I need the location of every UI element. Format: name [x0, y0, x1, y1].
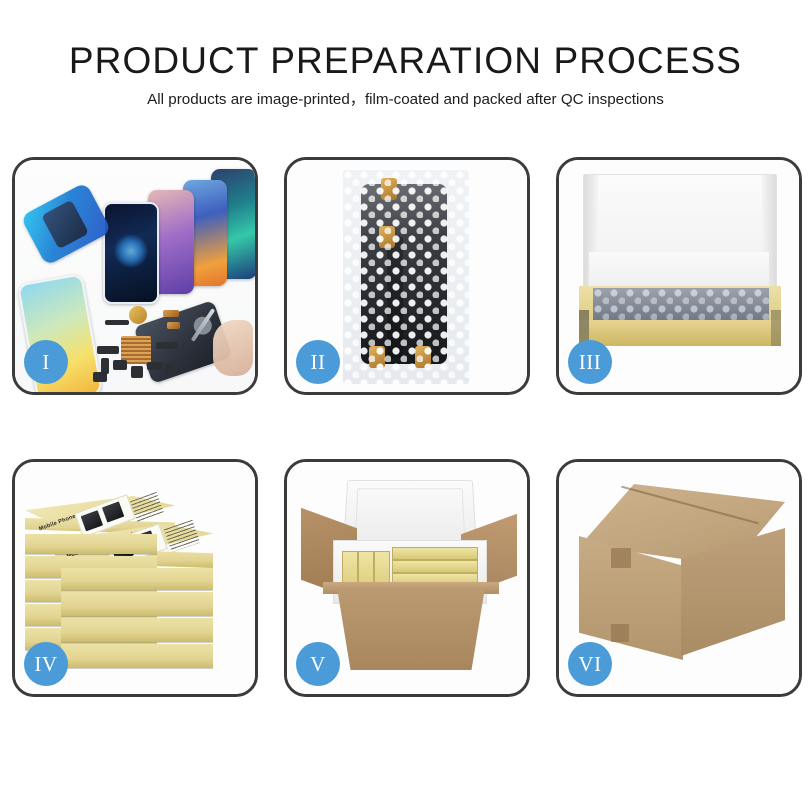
carton-tape-upper — [611, 548, 631, 568]
step-badge-6: VI — [568, 642, 612, 686]
flex-connector-part-2 — [167, 322, 180, 329]
bubble-texture — [343, 170, 469, 384]
hand — [213, 320, 253, 376]
bubble-wrap-sleeve — [343, 170, 469, 384]
flex-connector-part — [163, 310, 179, 317]
cable-part-2 — [156, 342, 178, 349]
process-step-panel-1[interactable]: I — [12, 157, 258, 395]
step-badge-1: I — [24, 340, 68, 384]
phone-black-glass — [103, 202, 159, 304]
step-badge-4: IV — [24, 642, 68, 686]
step-badge-2: II — [296, 340, 340, 384]
stack-layer-1 — [25, 534, 157, 554]
packed-box-5 — [392, 560, 478, 573]
page-subtitle: All products are image-printed，film-coat… — [0, 91, 811, 109]
bubble-texture-inner — [593, 288, 769, 322]
box-spec-lines-back — [130, 492, 164, 522]
vibrator-part — [165, 364, 174, 376]
process-step-panel-6[interactable]: VI — [556, 459, 802, 697]
process-step-panel-5[interactable]: V — [284, 459, 530, 697]
button-part — [93, 372, 107, 382]
packed-box-4 — [392, 547, 478, 560]
process-step-panel-4[interactable]: Mobile Phone Spare Parts Mobile Phone Sp… — [12, 459, 258, 697]
box-lip-right — [771, 310, 781, 346]
process-step-panel-2[interactable]: II — [284, 157, 530, 395]
page-title: PRODUCT PREPARATION PROCESS — [0, 42, 811, 81]
sensor-module — [147, 362, 163, 370]
stack-layer-r3 — [61, 618, 213, 642]
stack-layer-r1 — [61, 568, 213, 590]
step-badge-3: III — [568, 340, 612, 384]
cable-part — [97, 346, 119, 354]
carton-front — [327, 588, 495, 670]
page-header: PRODUCT PREPARATION PROCESS All products… — [0, 0, 811, 109]
camera-module — [131, 366, 143, 378]
carton-tape-lower — [611, 624, 629, 642]
stack-layer-r2 — [61, 592, 213, 616]
bubble-wrap-inside — [593, 288, 769, 322]
box-base-front — [579, 320, 781, 346]
speaker-part — [129, 306, 147, 324]
process-step-panel-3[interactable]: III — [556, 157, 802, 395]
small-chip-2 — [113, 360, 127, 370]
process-step-grid: I II III — [12, 157, 802, 697]
earpiece-part — [105, 320, 129, 325]
step-badge-5: V — [296, 642, 340, 686]
stack-layer-r4 — [61, 644, 213, 668]
